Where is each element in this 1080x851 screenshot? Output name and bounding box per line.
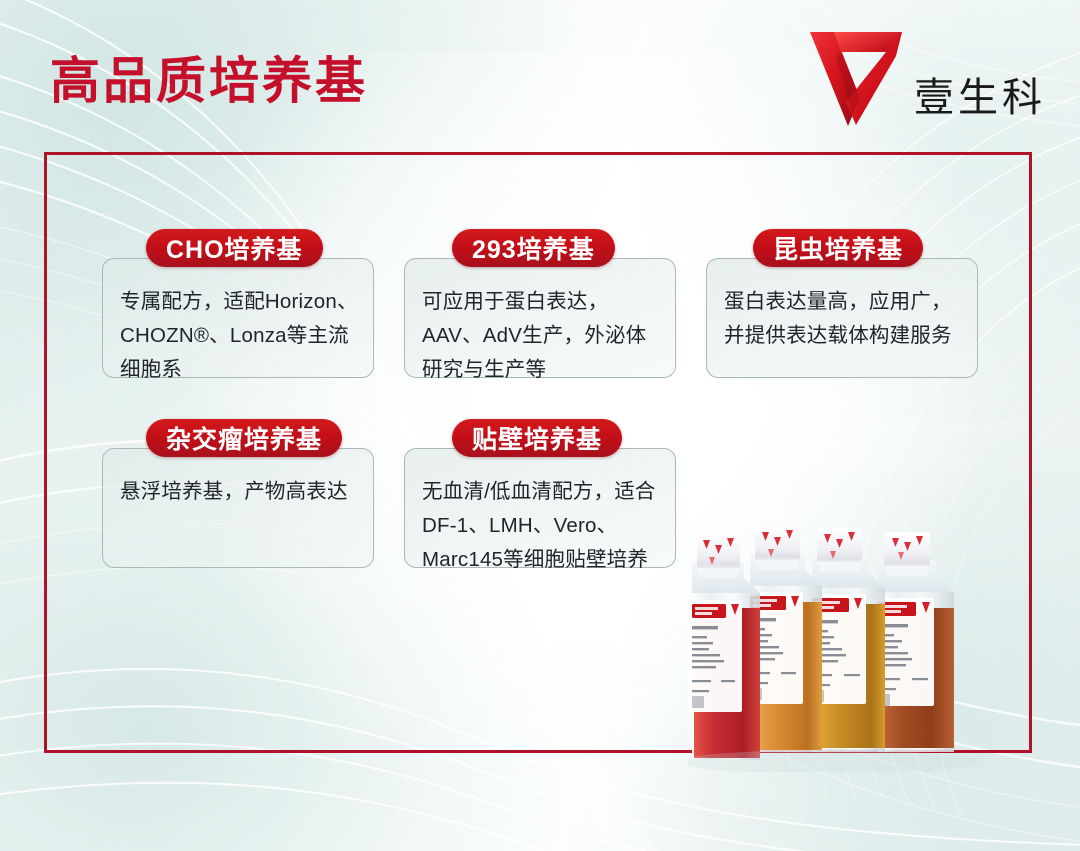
bottle-1 (688, 534, 760, 760)
card-insect: 蛋白表达量高，应用广，并提供表达载体构建服务 (706, 258, 978, 378)
bottles-illustration-icon (688, 512, 1018, 772)
card-hybridoma: 悬浮培养基，产物高表达 (102, 448, 374, 568)
card-body-hybridoma: 悬浮培养基，产物高表达 (120, 475, 359, 509)
card-badge-adherent: 贴壁培养基 (452, 419, 622, 457)
slide-root: 高品质培养基 (0, 0, 1080, 851)
card-adherent: 无血清/低血清配方，适合DF-1、LMH、Vero、Marc145等细胞贴壁培养 (404, 448, 676, 568)
brand-name: 壹生科 (914, 78, 1046, 126)
card-badge-insect: 昆虫培养基 (753, 229, 923, 267)
page-title: 高品质培养基 (50, 56, 368, 106)
card-body-cho: 专属配方，适配Horizon、CHOZN®、Lonza等主流细胞系 (120, 285, 359, 387)
card-badge-cho: CHO培养基 (146, 229, 323, 267)
v7-logo-icon (808, 26, 904, 126)
card-cho: 专属配方，适配Horizon、CHOZN®、Lonza等主流细胞系 (102, 258, 374, 378)
card-293: 可应用于蛋白表达，AAV、AdV生产，外泌体研究与生产等 (404, 258, 676, 378)
card-body-293: 可应用于蛋白表达，AAV、AdV生产，外泌体研究与生产等 (422, 285, 661, 387)
bottle-4 (874, 532, 954, 752)
card-badge-hybridoma: 杂交瘤培养基 (146, 419, 342, 457)
culture-media-bottles-photo (688, 512, 1018, 772)
card-body-adherent: 无血清/低血清配方，适合DF-1、LMH、Vero、Marc145等细胞贴壁培养 (422, 475, 661, 577)
card-body-insect: 蛋白表达量高，应用广，并提供表达载体构建服务 (724, 285, 963, 353)
card-badge-293: 293培养基 (452, 229, 615, 267)
brand-logo: 壹生科 (808, 26, 1046, 126)
